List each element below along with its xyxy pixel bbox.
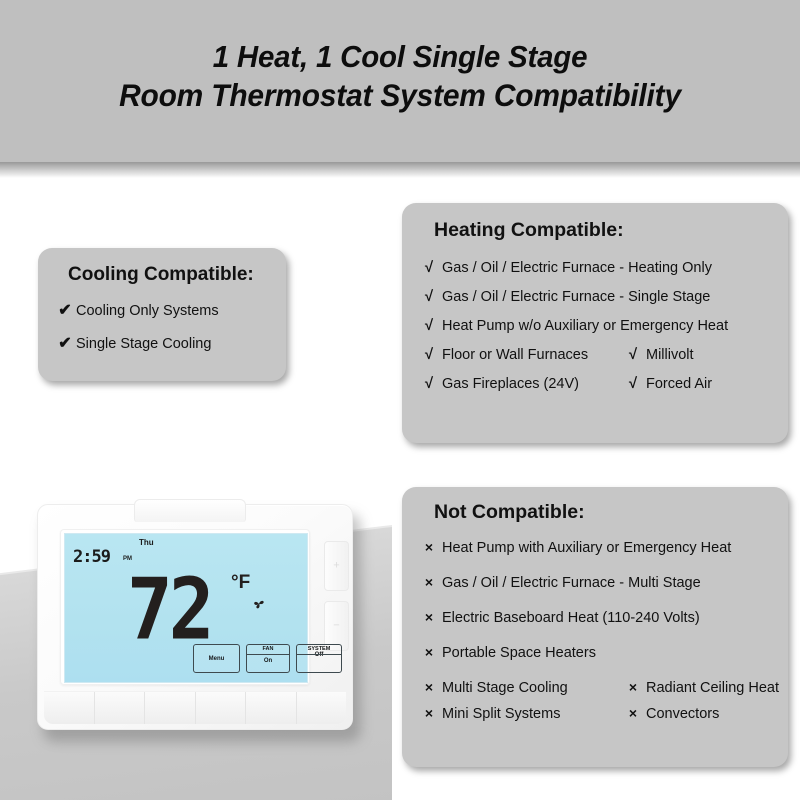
lcd-button-row: Menu FAN On SYSTEM Off xyxy=(193,644,342,673)
bottom-segment xyxy=(246,692,297,724)
thermostat-product-photo: + − Thu 2:59 PM 72 °F xyxy=(0,430,392,800)
list-item: √ Gas Fireplaces (24V) √ Forced Air xyxy=(416,375,780,392)
not-compatible-panel-title: Not Compatible: xyxy=(434,501,585,524)
cross-icon: × xyxy=(416,644,442,660)
cooling-panel-title: Cooling Compatible: xyxy=(68,264,254,286)
check-icon: ✔ xyxy=(54,333,76,353)
list-item-label: Gas / Oil / Electric Furnace - Single St… xyxy=(442,289,710,305)
list-item-label: Mini Split Systems xyxy=(442,706,560,722)
list-item-label: Portable Space Heaters xyxy=(442,645,596,661)
list-item-label: Cooling Only Systems xyxy=(76,303,219,319)
list-item: × Heat Pump with Auxiliary or Emergency … xyxy=(416,539,780,556)
list-item-label: Electric Baseboard Heat (110-240 Volts) xyxy=(442,610,700,626)
minus-icon: − xyxy=(325,621,348,632)
list-item: √ Gas / Oil / Electric Furnace - Heating… xyxy=(416,259,780,276)
list-item-label: Convectors xyxy=(646,706,719,722)
list-item: × Gas / Oil / Electric Furnace - Multi S… xyxy=(416,574,780,591)
lcd-temperature-display: 72 xyxy=(127,567,211,652)
fan-icon xyxy=(251,596,267,612)
cooling-compatible-panel: Cooling Compatible: ✔ Cooling Only Syste… xyxy=(38,248,286,381)
thermostat-case: + − Thu 2:59 PM 72 °F xyxy=(37,504,353,730)
list-item-label: Single Stage Cooling xyxy=(76,336,211,352)
cooling-list: ✔ Cooling Only Systems ✔ Single Stage Co… xyxy=(54,300,278,366)
bottom-segment xyxy=(95,692,146,724)
lcd-system-button-header: SYSTEM xyxy=(297,645,341,655)
increase-temperature-button[interactable]: + xyxy=(324,541,349,591)
bottom-segment xyxy=(297,692,347,724)
list-item: ✔ Cooling Only Systems xyxy=(54,300,278,320)
list-item: × Mini Split Systems × Convectors xyxy=(416,705,780,722)
lcd-system-button-label: Off xyxy=(315,652,324,672)
list-item: × Electric Baseboard Heat (110-240 Volts… xyxy=(416,609,780,626)
thermostat-lcd-screen[interactable]: Thu 2:59 PM 72 °F xyxy=(64,533,308,683)
header-shadow xyxy=(0,162,800,178)
not-compatible-panel: Not Compatible: × Heat Pump with Auxilia… xyxy=(402,487,788,767)
cross-icon: × xyxy=(416,574,442,590)
heating-compatible-panel: Heating Compatible: √ Gas / Oil / Electr… xyxy=(402,203,788,443)
lcd-system-button[interactable]: SYSTEM Off xyxy=(296,644,342,673)
lcd-temperature-unit: °F xyxy=(231,572,250,594)
page-title: 1 Heat, 1 Cool Single Stage Room Thermos… xyxy=(20,38,780,114)
check-icon: ✔ xyxy=(54,300,76,320)
list-item-label: Gas / Oil / Electric Furnace - Heating O… xyxy=(442,260,712,276)
lcd-day-label: Thu xyxy=(139,538,154,547)
list-item-label: Heat Pump w/o Auxiliary or Emergency Hea… xyxy=(442,318,728,334)
list-item-label: Gas Fireplaces (24V) xyxy=(442,376,579,392)
bottom-segment xyxy=(196,692,247,724)
check-icon: √ xyxy=(416,317,442,334)
page-title-line2: Room Thermostat System Compatibility xyxy=(20,76,780,114)
list-item-label: Multi Stage Cooling xyxy=(442,680,568,696)
check-icon: √ xyxy=(620,346,646,363)
heating-panel-title: Heating Compatible: xyxy=(434,219,624,242)
cross-icon: × xyxy=(416,609,442,625)
bottom-segment xyxy=(44,692,95,724)
lcd-fan-button[interactable]: FAN On xyxy=(246,644,290,673)
cross-icon: × xyxy=(620,705,646,721)
check-icon: √ xyxy=(416,375,442,392)
thermostat-top-tab xyxy=(134,499,246,522)
list-item: √ Gas / Oil / Electric Furnace - Single … xyxy=(416,288,780,305)
bottom-segment xyxy=(145,692,196,724)
list-item: √ Floor or Wall Furnaces √ Millivolt xyxy=(416,346,780,363)
thermostat-bottom-strip xyxy=(44,691,346,724)
infographic-root: 1 Heat, 1 Cool Single Stage Room Thermos… xyxy=(0,0,800,800)
list-item-label: Radiant Ceiling Heat xyxy=(646,680,779,696)
cross-icon: × xyxy=(416,539,442,555)
thermostat-device: + − Thu 2:59 PM 72 °F xyxy=(37,504,357,734)
check-icon: √ xyxy=(620,375,646,392)
list-item: × Portable Space Heaters xyxy=(416,644,780,661)
check-icon: √ xyxy=(416,288,442,305)
cross-icon: × xyxy=(416,679,442,695)
page-title-line1: 1 Heat, 1 Cool Single Stage xyxy=(20,38,780,76)
not-compatible-list: × Heat Pump with Auxiliary or Emergency … xyxy=(416,539,780,740)
list-item-label: Floor or Wall Furnaces xyxy=(442,347,588,363)
check-icon: √ xyxy=(416,346,442,363)
cross-icon: × xyxy=(620,679,646,695)
list-item: × Multi Stage Cooling × Radiant Ceiling … xyxy=(416,679,780,696)
check-icon: √ xyxy=(416,259,442,276)
list-item-label: Heat Pump with Auxiliary or Emergency He… xyxy=(442,540,731,556)
heating-list: √ Gas / Oil / Electric Furnace - Heating… xyxy=(416,259,780,404)
list-item: ✔ Single Stage Cooling xyxy=(54,333,278,353)
cross-icon: × xyxy=(416,705,442,721)
lcd-time-display: 2:59 xyxy=(73,547,110,567)
list-item-label: Forced Air xyxy=(646,376,712,392)
list-item-label: Gas / Oil / Electric Furnace - Multi Sta… xyxy=(442,575,701,591)
lcd-fan-button-header: FAN xyxy=(247,645,289,655)
lcd-menu-button-label: Menu xyxy=(209,656,225,672)
list-item-label: Millivolt xyxy=(646,347,694,363)
lcd-menu-button[interactable]: Menu xyxy=(193,644,240,673)
lcd-fan-button-label: On xyxy=(264,658,272,672)
list-item: √ Heat Pump w/o Auxiliary or Emergency H… xyxy=(416,317,780,334)
plus-icon: + xyxy=(325,561,348,572)
